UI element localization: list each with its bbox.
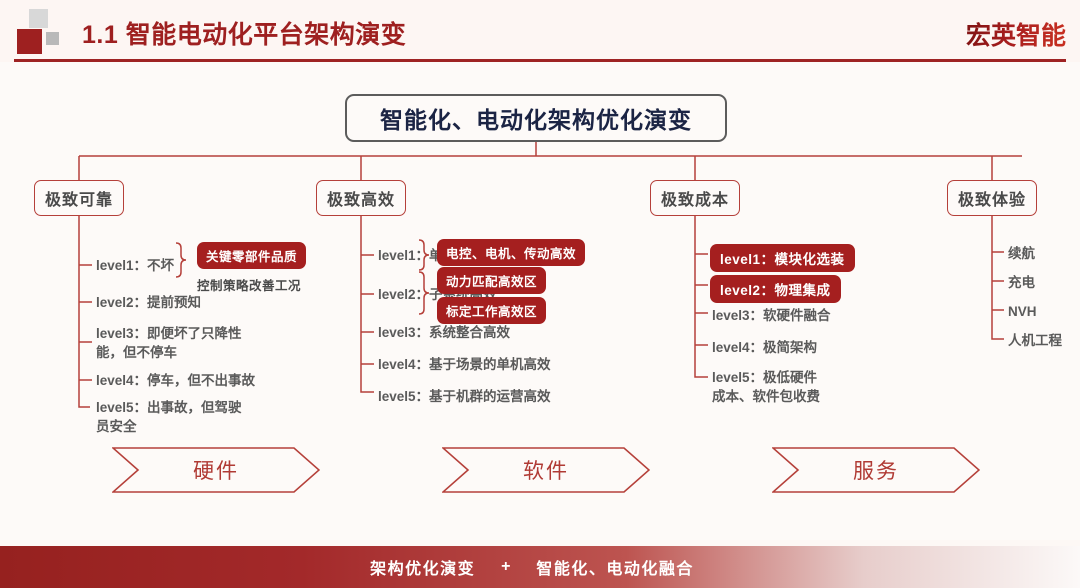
level-item[interactable]: 续航	[1008, 244, 1035, 263]
branch-box-label: 极致成本	[661, 186, 729, 210]
level-item[interactable]: level4：基于场景的单机高效	[378, 355, 551, 374]
brand-logo: 宏英智能	[966, 16, 1066, 52]
decorative-square-gray-top	[29, 9, 48, 28]
diagram-canvas: 智能化、电动化架构优化演变 极致可靠 极致高效 极致成本 极致体验 level1…	[0, 62, 1080, 540]
level-item[interactable]: 充电	[1008, 273, 1035, 292]
footer-right-text: 智能化、电动化融合	[536, 555, 694, 579]
sub-badge-power-matching-zone[interactable]: 动力匹配高效区	[437, 267, 546, 294]
level-item[interactable]: level3：系统整合高效	[378, 323, 510, 342]
chevron-label: 硬件	[193, 455, 239, 485]
diagram-root-label: 智能化、电动化架构优化演变	[380, 101, 692, 135]
level-item[interactable]: level2：提前预知	[96, 293, 201, 312]
level-item[interactable]: 人机工程	[1008, 331, 1062, 350]
branch-box-label: 极致可靠	[45, 186, 113, 210]
slide-footer: 架构优化演变 + 智能化、电动化融合	[0, 546, 1080, 588]
diagram-root-box[interactable]: 智能化、电动化架构优化演变	[345, 94, 727, 142]
chevron-service[interactable]: 服务	[772, 447, 980, 493]
footer-left-text: 架构优化演变	[370, 555, 475, 579]
page-title: 1.1 智能电动化平台架构演变	[82, 15, 406, 51]
chevron-label: 服务	[853, 455, 899, 485]
level-item[interactable]: level1：不坏	[96, 256, 174, 275]
level-item-highlighted[interactable]: level2：物理集成	[710, 275, 841, 303]
level-item[interactable]: level5：基于机群的运营高效	[378, 387, 551, 406]
sub-badge-key-component-quality[interactable]: 关键零部件品质	[197, 242, 306, 269]
decorative-square-red	[17, 29, 42, 54]
level-item[interactable]: level4：极简架构	[712, 338, 817, 357]
branch-box-efficiency[interactable]: 极致高效	[316, 180, 406, 216]
branch-box-cost[interactable]: 极致成本	[650, 180, 740, 216]
level-item[interactable]: level4：停车，但不出事故	[96, 371, 255, 390]
level-item[interactable]: NVH	[1008, 302, 1037, 321]
decorative-square-gray-small	[46, 32, 59, 45]
sub-badge-powertrain-efficiency[interactable]: 电控、电机、传动高效	[437, 239, 585, 266]
level-item[interactable]: level5：出事故，但驾驶 员安全	[96, 398, 242, 436]
level-item[interactable]: level3：即便坏了只降性 能，但不停车	[96, 324, 242, 362]
branch-box-label: 极致高效	[327, 186, 395, 210]
branch-box-reliability[interactable]: 极致可靠	[34, 180, 124, 216]
level-item[interactable]: level3：软硬件融合	[712, 306, 831, 325]
sub-label-control-strategy: 控制策略改善工况	[197, 275, 301, 294]
branch-box-label: 极致体验	[958, 186, 1026, 210]
footer-content: 架构优化演变 + 智能化、电动化融合	[370, 555, 694, 579]
chevron-hardware[interactable]: 硬件	[112, 447, 320, 493]
slide-header: 1.1 智能电动化平台架构演变 宏英智能	[0, 0, 1080, 62]
level-item[interactable]: level5：极低硬件 成本、软件包收费	[712, 368, 820, 406]
branch-box-experience[interactable]: 极致体验	[947, 180, 1037, 216]
sub-badge-calibration-zone[interactable]: 标定工作高效区	[437, 297, 546, 324]
footer-plus-sign: +	[501, 558, 510, 576]
chevron-software[interactable]: 软件	[442, 447, 650, 493]
chevron-label: 软件	[523, 455, 569, 485]
level-item-highlighted[interactable]: level1：模块化选装	[710, 244, 855, 272]
